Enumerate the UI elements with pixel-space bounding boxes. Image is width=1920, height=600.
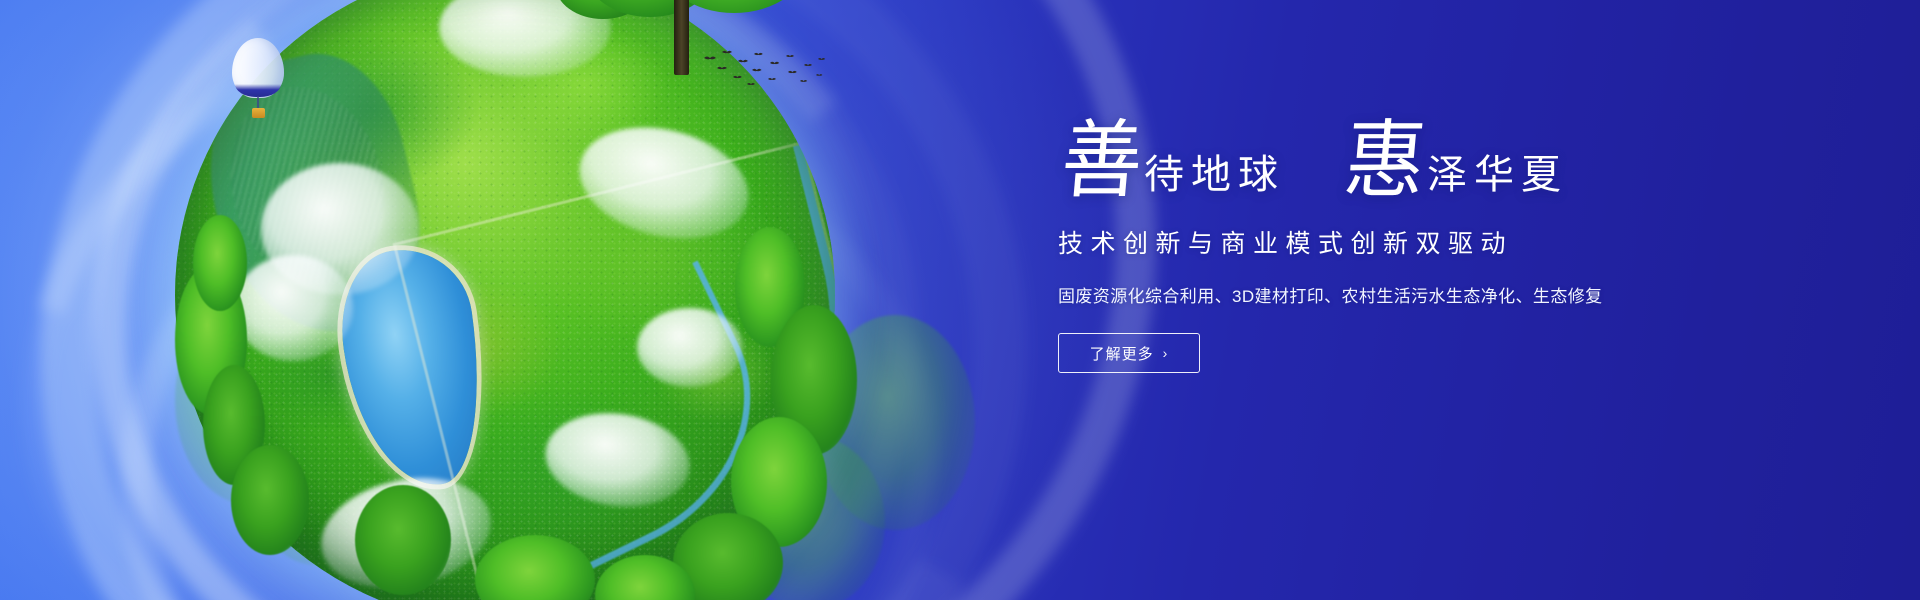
tree-icon	[355, 485, 451, 595]
chevron-right-icon: ›	[1163, 346, 1169, 360]
learn-more-button[interactable]: 了解更多 ›	[1058, 333, 1200, 373]
tree-icon	[231, 445, 309, 555]
birds-flock-icon	[700, 48, 830, 94]
headline-lead-char-2: 惠	[1341, 119, 1440, 204]
page-description: 固废资源化综合利用、3D建材打印、农村生活污水生态净化、生态修复	[1058, 282, 1758, 307]
page-subtitle: 技术创新与商业模式创新双驱动	[1058, 224, 1758, 260]
headline-rest-2: 泽华夏	[1427, 155, 1568, 195]
learn-more-label: 了解更多	[1090, 343, 1154, 364]
tree-icon	[193, 215, 247, 311]
hot-air-balloon-icon	[232, 38, 290, 126]
headline-rest-1: 待地球	[1144, 155, 1285, 195]
hero-banner: 善 待地球 惠 泽华夏 技术创新与商业模式创新双驱动 固废资源化综合利用、3D建…	[0, 0, 1920, 600]
headline-lead-char-1: 善	[1058, 119, 1157, 204]
page-title: 善 待地球 惠 泽华夏	[1058, 128, 1758, 204]
hero-content: 善 待地球 惠 泽华夏 技术创新与商业模式创新双驱动 固废资源化综合利用、3D建…	[1058, 128, 1758, 373]
